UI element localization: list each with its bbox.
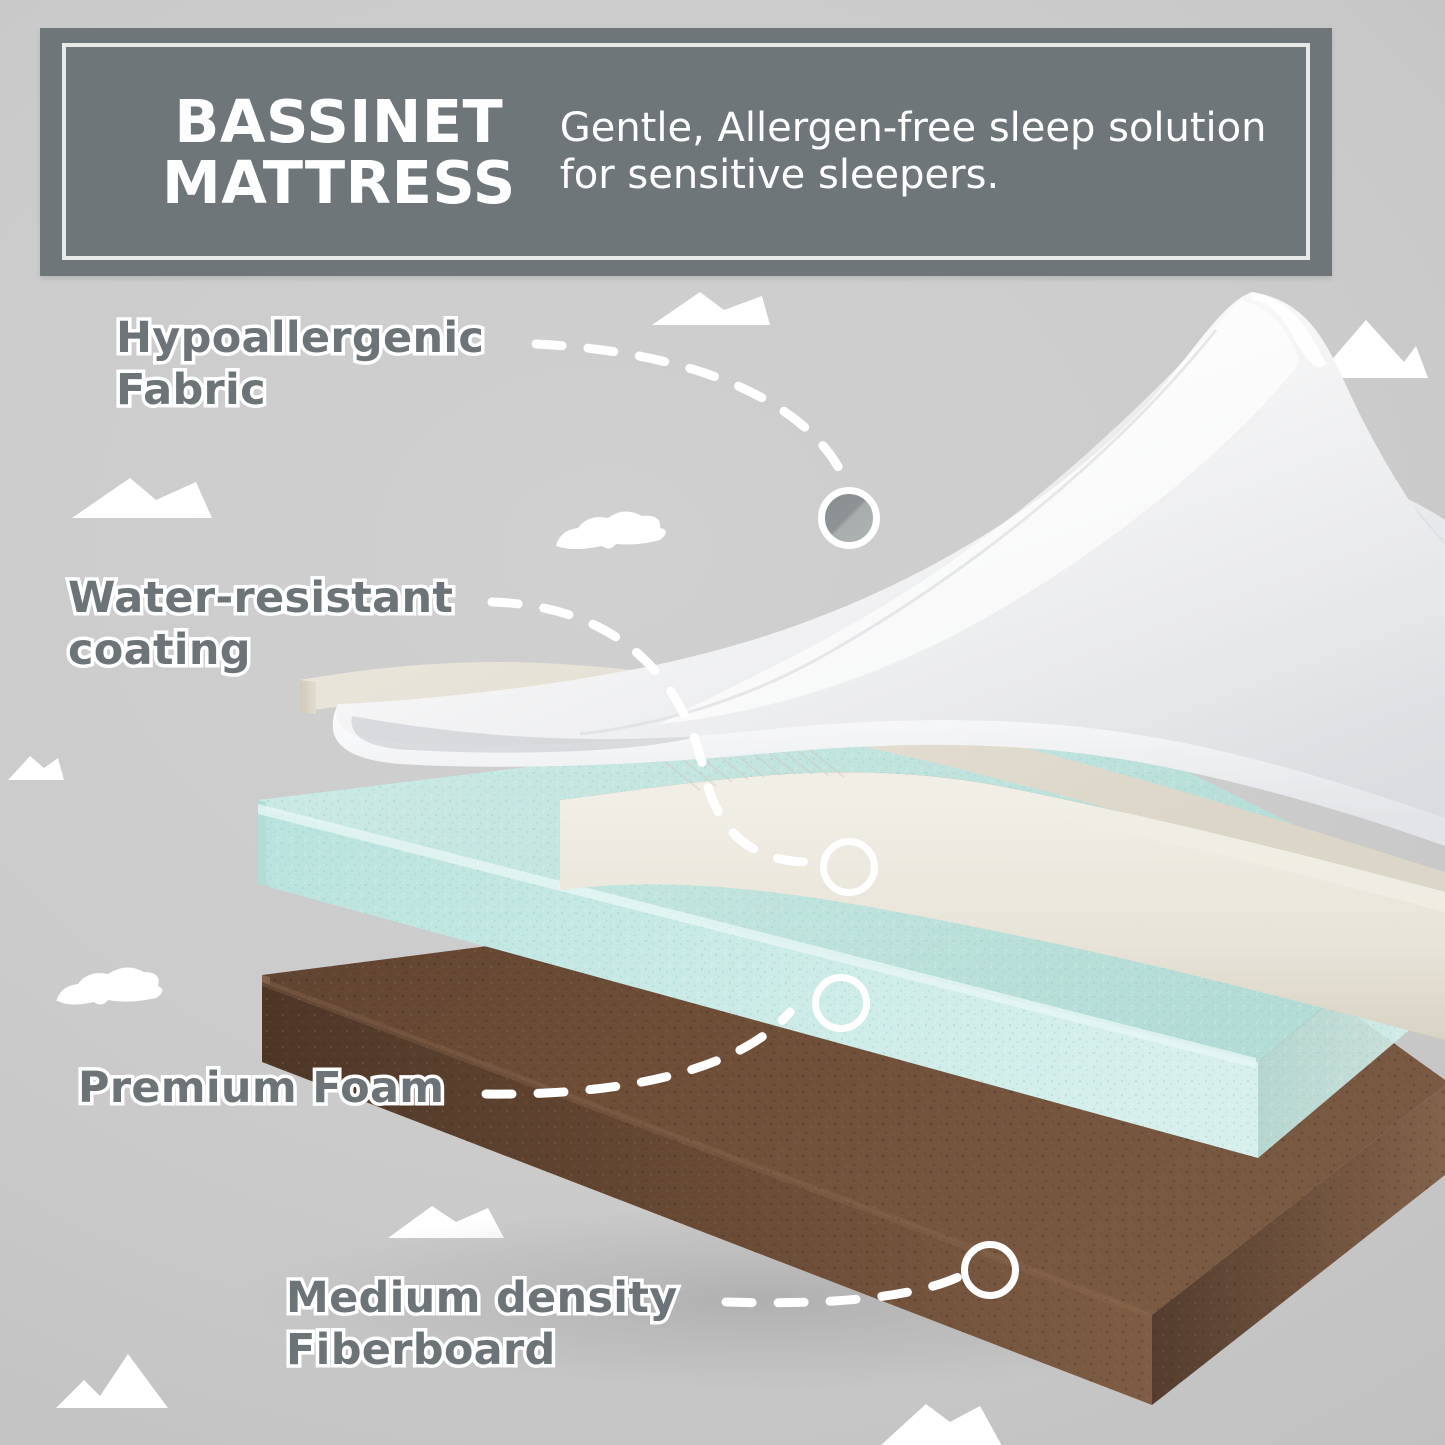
callout-label-hypoallergenic-fabric: Hypoallergenic Fabric [116,312,484,417]
callout-label-medium-density-fiberboard: Medium density Fiberboard [286,1272,678,1377]
page-subtitle: Gentle, Allergen-free sleep solution for… [560,105,1300,199]
callout-marker-medium-density-fiberboard [961,1241,1019,1299]
callout-marker-water-resistant-coating [820,838,878,896]
infographic-canvas: BASSINETMATTRESS Gentle, Allergen-free s… [0,0,1445,1445]
callout-marker-hypoallergenic-fabric [818,487,880,549]
connector-hypoallergenic-fabric [536,344,846,482]
callout-marker-premium-foam [812,974,870,1032]
header-banner: BASSINETMATTRESS Gentle, Allergen-free s… [40,28,1332,276]
page-title-line-2: MATTRESS [162,148,516,217]
page-title-line-1: BASSINET [174,87,503,156]
callout-label-premium-foam: Premium Foam [78,1062,444,1114]
page-title: BASSINETMATTRESS [162,91,516,214]
header-banner-content: BASSINETMATTRESS Gentle, Allergen-free s… [40,28,1332,276]
callout-label-water-resistant-coating: Water-resistant coating [68,572,453,677]
